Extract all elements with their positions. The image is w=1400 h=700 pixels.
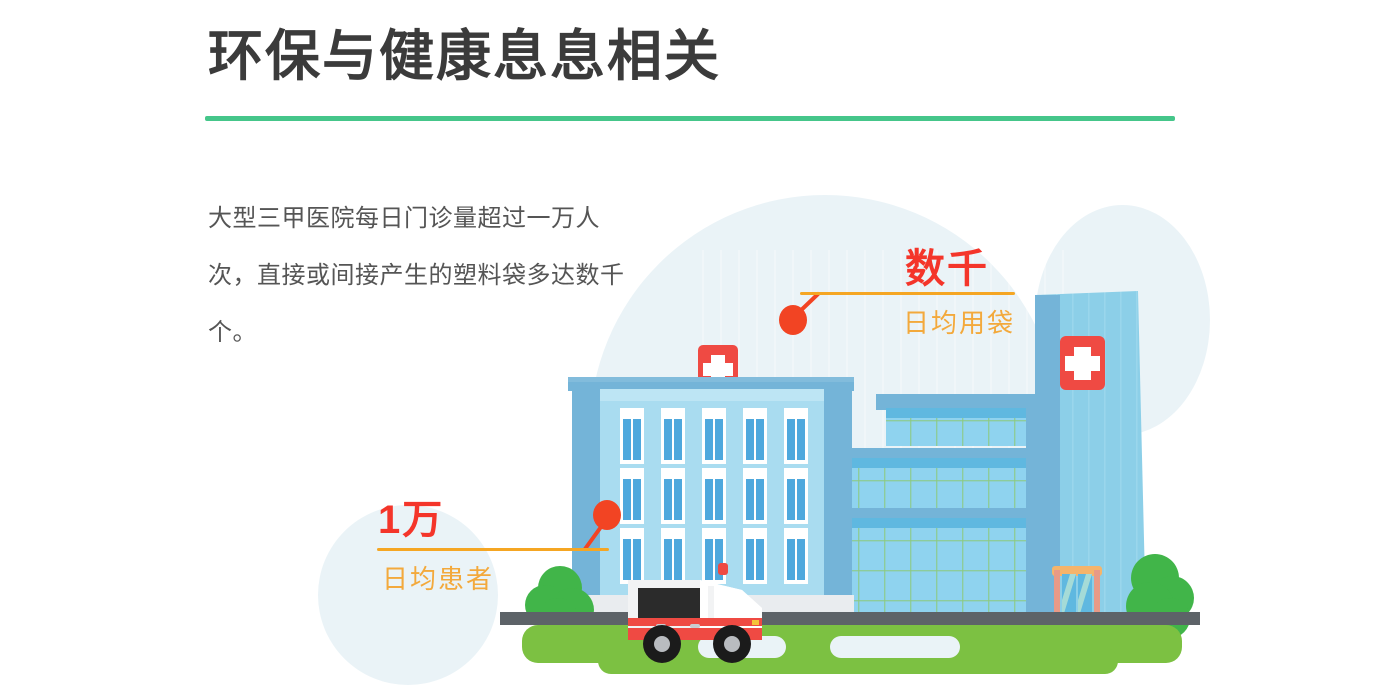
callout-patients-marker-dot	[593, 500, 621, 530]
callout-patients-value: 1万	[378, 487, 444, 545]
intro-paragraph: 大型三甲医院每日门诊量超过一万人次，直接或间接产生的塑料袋多达数千个。	[208, 190, 638, 361]
page-title: 环保与健康息息相关	[208, 22, 721, 91]
hospital-main-building	[568, 345, 854, 623]
hospital-tower	[1035, 291, 1146, 622]
infographic-page: 环保与健康息息相关 大型三甲医院每日门诊量超过一万人次，直接或间接产生的塑料袋多…	[0, 0, 1400, 700]
callout-bags-marker-dot	[779, 305, 807, 335]
callout-patients-label: 日均患者	[382, 559, 494, 596]
title-underline-rule	[205, 116, 1175, 121]
callout-bags-rule	[800, 292, 1015, 295]
ground	[500, 612, 1200, 674]
callout-bags-label: 日均用袋	[903, 303, 1015, 340]
callout-patients-rule	[377, 548, 609, 551]
callout-bags-value: 数千	[905, 236, 989, 294]
